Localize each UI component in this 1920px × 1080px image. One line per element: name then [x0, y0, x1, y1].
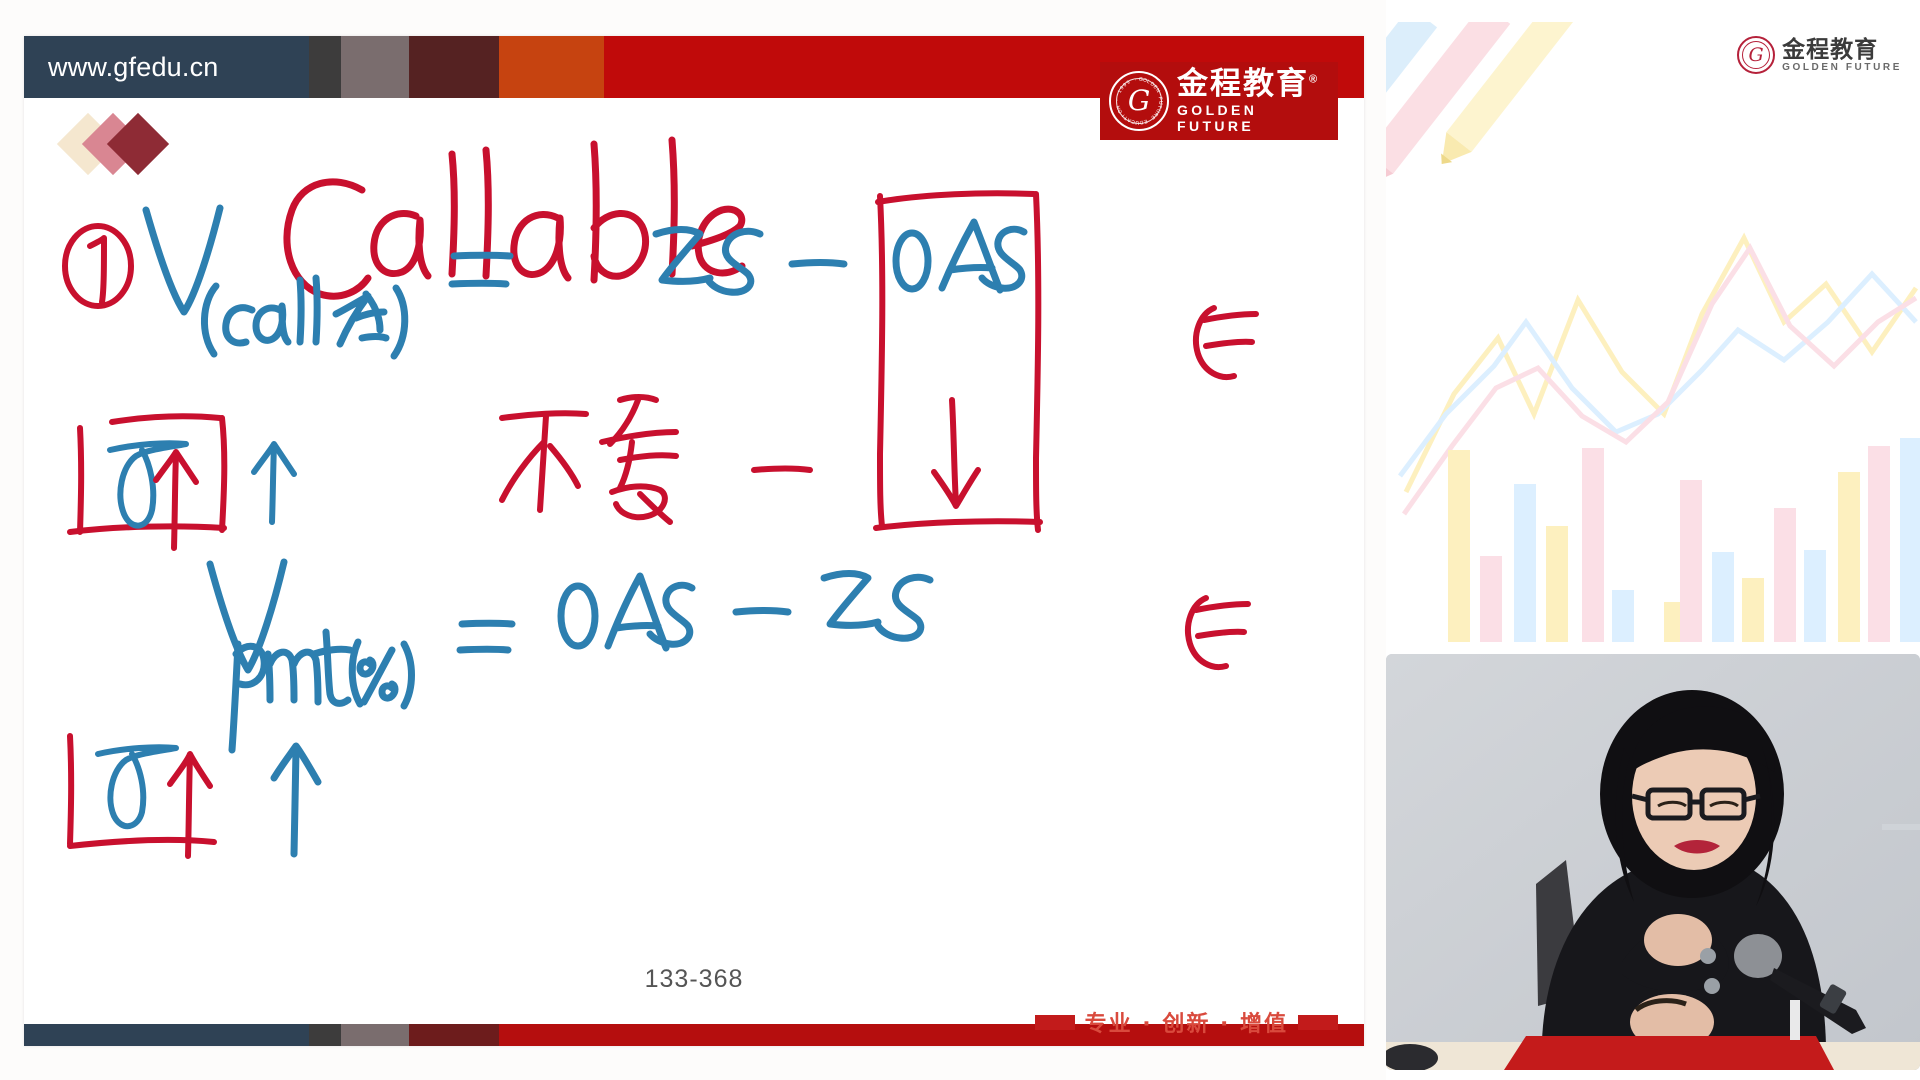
right-column: G 金程教育 GOLDEN FUTURE: [1386, 0, 1920, 1080]
website-url-label: www.gfedu.cn: [24, 36, 309, 98]
instructor-webcam-panel[interactable]: [1386, 654, 1920, 1070]
handwritten-note-buxian: [502, 397, 676, 522]
brand-name-cn-text: 金程教育: [1177, 66, 1309, 101]
handwritten-minus-1: [792, 263, 844, 265]
handwritten-sigma-2: [98, 747, 176, 826]
page-number: 133-368: [24, 965, 1364, 994]
seal-monogram-dark: G: [1739, 38, 1773, 72]
slide-area: www.gfedu.cn GOLDEN FUTURE EDUCATION · 1…: [0, 0, 1386, 1080]
cover-brand-cn: 金程教育: [1782, 37, 1902, 61]
bottom-segment-gray: [309, 1024, 341, 1046]
slogan-bar-right: [1298, 1015, 1338, 1030]
strip-segment-gray: [309, 36, 341, 98]
brand-name-cn: 金程教育®: [1177, 68, 1338, 101]
screen-root: www.gfedu.cn GOLDEN FUTURE EDUCATION · 1…: [0, 0, 1920, 1080]
handwritten-arrow-up-red-1: [156, 452, 196, 548]
handwritten-vput-equation: [210, 562, 930, 750]
strip-segment-maroon: [409, 36, 499, 98]
brand-name-en: GOLDEN FUTURE: [1177, 102, 1338, 134]
handwritten-title-callable: [287, 140, 742, 296]
bottom-segment-maroon: [409, 1024, 499, 1046]
slogan-text: 专业 · 创新 · 增值: [1085, 1006, 1288, 1038]
handwritten-marker-circle-1: [65, 226, 131, 306]
cover-wordmark: 金程教育 GOLDEN FUTURE: [1782, 37, 1902, 73]
brand-logo-slide: GOLDEN FUTURE EDUCATION · 1999 · G 金程教育®…: [1100, 62, 1338, 140]
pencil-illustration: [1386, 22, 1576, 209]
slogan-bar-left: [1035, 1015, 1075, 1030]
handwritten-mark-1: [1196, 308, 1256, 377]
seal-monogram: G: [1111, 73, 1167, 129]
handwritten-minus-2: [754, 469, 810, 471]
golden-future-seal-icon: GOLDEN FUTURE EDUCATION · 1999 · G: [1109, 71, 1169, 131]
course-cover-panel: G 金程教育 GOLDEN FUTURE: [1386, 22, 1920, 642]
strip-segment-orange: [499, 36, 604, 98]
bottom-segment-mauve: [341, 1024, 409, 1046]
brand-slogan: 专业 · 创新 · 增值: [1035, 1006, 1338, 1038]
handwriting-annotation-layer: [24, 98, 1364, 978]
handwritten-oas-1: [896, 222, 1024, 290]
registered-mark: ®: [1309, 73, 1319, 85]
handwritten-arrow-down-red: [934, 400, 978, 506]
cover-bar-chart: [1448, 438, 1920, 642]
handwritten-arrow-up-blue-2: [274, 746, 318, 854]
handwritten-equals-1: [452, 255, 510, 284]
brand-wordmark: 金程教育® GOLDEN FUTURE: [1177, 68, 1338, 135]
strip-segment-mauve: [341, 36, 409, 98]
handwritten-mark-2: [1188, 598, 1248, 667]
cover-artwork: [1386, 22, 1920, 642]
cover-brand-en: GOLDEN FUTURE: [1782, 62, 1902, 73]
handwritten-arrow-up-blue-1: [254, 444, 294, 522]
handwritten-box-sigma-1: [70, 416, 224, 532]
golden-future-seal-icon-dark: G: [1737, 36, 1775, 74]
webcam-video-frame: [1386, 654, 1920, 1070]
brand-logo-cover: G 金程教育 GOLDEN FUTURE: [1737, 36, 1902, 74]
bottom-segment-navy: [24, 1024, 309, 1046]
slide-page: www.gfedu.cn GOLDEN FUTURE EDUCATION · 1…: [24, 36, 1364, 1046]
